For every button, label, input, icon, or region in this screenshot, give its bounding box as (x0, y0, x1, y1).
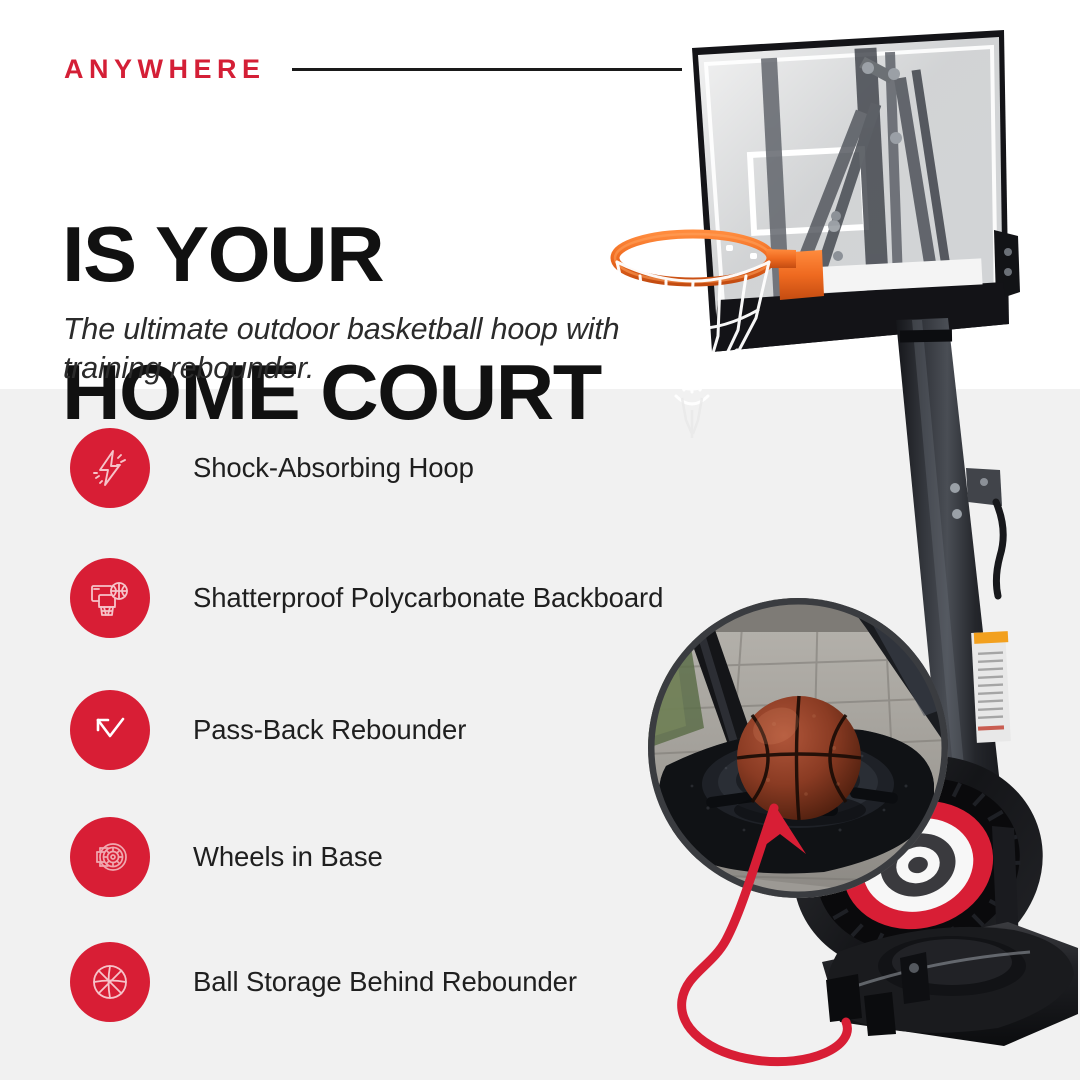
rebound-arrow-icon (70, 690, 150, 770)
headline-line-1: IS YOUR (62, 220, 748, 289)
eyebrow-row: ANYWHERE (64, 52, 704, 86)
poster-canvas: ANYWHERE IS YOUR HOME COURT The ultimate… (0, 0, 1080, 1080)
feature-label: Shock-Absorbing Hoop (193, 451, 474, 485)
callout-arrow-icon (660, 760, 880, 1070)
feature-item-pass-back-rebounder: Pass-Back Rebounder (70, 690, 466, 770)
feature-item-wheels-in-base: Wheels in Base (70, 817, 383, 897)
eyebrow-divider (292, 68, 682, 71)
feature-item-shock-absorbing-hoop: Shock-Absorbing Hoop (70, 428, 474, 508)
feature-label: Ball Storage Behind Rebounder (193, 965, 577, 999)
backboard-hoop-ball-icon (70, 558, 150, 638)
feature-item-shatterproof-backboard: Shatterproof Polycarbonate Backboard (70, 558, 663, 638)
feature-item-ball-storage: Ball Storage Behind Rebounder (70, 942, 577, 1022)
feature-label: Wheels in Base (193, 840, 383, 874)
wheel-icon (70, 817, 150, 897)
eyebrow-label: ANYWHERE (64, 56, 266, 83)
lightning-bolt-icon (70, 428, 150, 508)
basketball-icon (70, 942, 150, 1022)
subheadline: The ultimate outdoor basketball hoop wit… (63, 310, 663, 388)
feature-label: Pass-Back Rebounder (193, 713, 466, 747)
feature-label: Shatterproof Polycarbonate Backboard (193, 581, 663, 615)
